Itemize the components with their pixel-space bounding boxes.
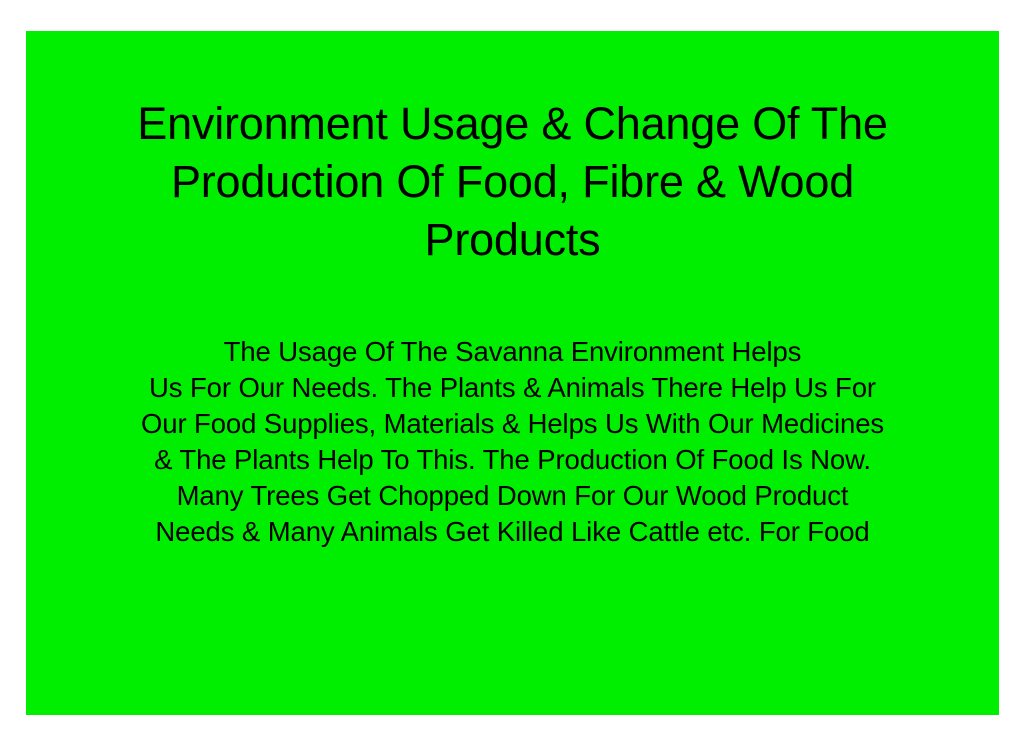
slide-body-line-3: Our Food Supplies, Materials & Helps Us …	[26, 406, 999, 442]
slide-canvas: Environment Usage & Change Of The Produc…	[0, 0, 1024, 748]
slide-title-line-1: Environment Usage & Change Of The	[26, 95, 999, 153]
slide-panel: Environment Usage & Change Of The Produc…	[26, 31, 999, 715]
slide-body-line-5: Many Trees Get Chopped Down For Our Wood…	[26, 478, 999, 514]
slide-title: Environment Usage & Change Of The Produc…	[26, 95, 999, 269]
slide-body-text: The Usage Of The Savanna Environment Hel…	[26, 334, 999, 550]
slide-body-line-2: Us For Our Needs. The Plants & Animals T…	[26, 370, 999, 406]
slide-body-line-1: The Usage Of The Savanna Environment Hel…	[26, 334, 999, 370]
slide-title-line-3: Products	[26, 211, 999, 269]
slide-body-line-4: & The Plants Help To This. The Productio…	[26, 442, 999, 478]
slide-title-line-2: Production Of Food, Fibre & Wood	[26, 153, 999, 211]
slide-body-line-6: Needs & Many Animals Get Killed Like Cat…	[26, 514, 999, 550]
